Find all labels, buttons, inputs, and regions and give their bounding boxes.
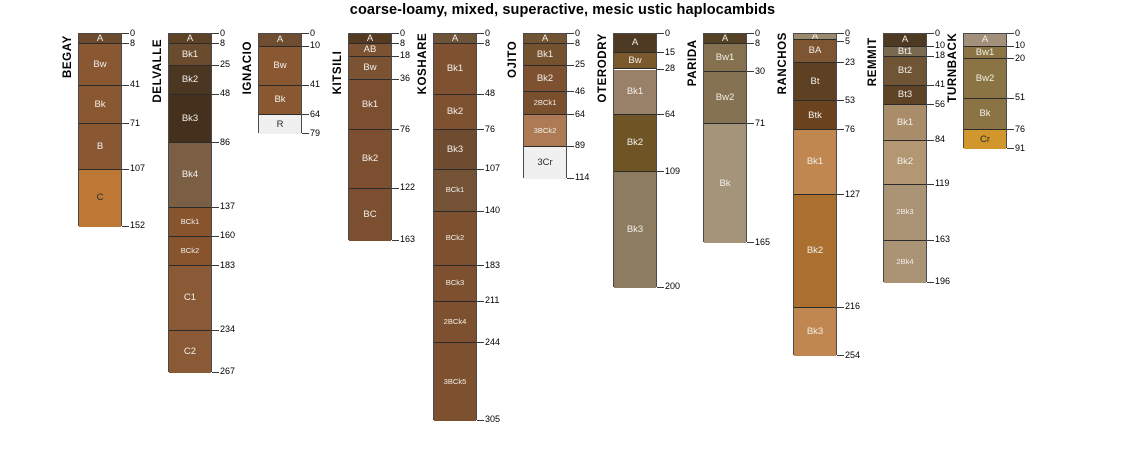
horizon-label: Bt — [811, 77, 820, 87]
depth-label: 5 — [845, 37, 850, 46]
depth-tick — [837, 62, 844, 63]
horizon-label: Bw — [628, 56, 641, 66]
horizon-label: Bw2 — [716, 93, 734, 103]
horizon-bk3[interactable]: Bk3 — [614, 172, 656, 287]
depth-label: 137 — [220, 202, 235, 211]
depth-tick — [1007, 33, 1014, 34]
horizon-label: Bk2 — [537, 74, 553, 84]
depth-tick — [837, 129, 844, 130]
depth-tick — [392, 240, 399, 241]
depth-label: 0 — [935, 29, 940, 38]
depth-tick — [1007, 46, 1014, 47]
horizon-bk3[interactable]: Bk3 — [434, 130, 476, 169]
depth-label: 0 — [575, 29, 580, 38]
horizon-label: Btk — [808, 111, 822, 121]
horizon-2bk3[interactable]: 2Bk3 — [884, 185, 926, 241]
depth-label: 8 — [575, 39, 580, 48]
depth-label: 163 — [935, 235, 950, 244]
depth-label: 76 — [1015, 125, 1025, 134]
depth-label: 28 — [665, 64, 675, 73]
depth-tick — [657, 171, 664, 172]
depth-label: 15 — [665, 48, 675, 57]
depth-label: 152 — [130, 221, 145, 230]
horizon-bw2[interactable]: Bw2 — [964, 59, 1006, 98]
depth-tick — [302, 114, 309, 115]
horizon-bk1[interactable]: Bk1 — [614, 70, 656, 116]
depth-label: 41 — [310, 80, 320, 89]
profile-name-label: BEGAY — [62, 37, 74, 78]
depth-label: 216 — [845, 302, 860, 311]
depth-tick — [212, 65, 219, 66]
depth-label: 46 — [575, 87, 585, 96]
depth-tick — [122, 43, 129, 44]
depth-tick — [122, 226, 129, 227]
horizon-bw2[interactable]: Bw2 — [704, 72, 746, 124]
depth-label: 79 — [310, 129, 320, 138]
depth-label: 25 — [220, 60, 230, 69]
depth-tick — [477, 420, 484, 421]
profile-name-label: REMMIT — [867, 37, 879, 86]
horizon-3bck2[interactable]: 3BCk2 — [524, 115, 566, 147]
depth-label: 0 — [400, 29, 405, 38]
horizon-3cr[interactable]: 3Cr — [524, 147, 566, 179]
horizon-label: Bt3 — [898, 90, 912, 100]
depth-tick — [837, 33, 844, 34]
depth-label: 8 — [755, 39, 760, 48]
depth-label: 109 — [665, 167, 680, 176]
horizon-label: Bw — [273, 61, 286, 71]
horizon-c1[interactable]: C1 — [169, 266, 211, 331]
horizon-label: Bk1 — [362, 100, 378, 110]
horizon-2bck1[interactable]: 2BCk1 — [524, 92, 566, 115]
horizon-bw[interactable]: Bw — [79, 44, 121, 86]
horizon-label: 2Bk3 — [896, 208, 913, 216]
horizon-label: A — [277, 35, 283, 45]
horizon-bk1[interactable]: Bk1 — [524, 44, 566, 66]
depth-label: 122 — [400, 183, 415, 192]
profile-column: AABBwBk1Bk2BC — [348, 33, 392, 240]
horizon-bk1[interactable]: Bk1 — [794, 130, 836, 195]
profile-name-label: KITSILI — [332, 37, 344, 94]
depth-label: 119 — [935, 179, 949, 188]
horizon-bw[interactable]: Bw — [259, 47, 301, 86]
depth-label: 71 — [755, 119, 765, 128]
horizon-bk[interactable]: Bk — [964, 99, 1006, 131]
horizon-bc[interactable]: BC — [349, 189, 391, 241]
depth-label: 84 — [935, 135, 945, 144]
depth-label: 30 — [755, 67, 765, 76]
horizon-label: C1 — [184, 293, 196, 303]
horizon-bt2[interactable]: Bt2 — [884, 57, 926, 86]
depth-label: 200 — [665, 282, 680, 291]
horizon-label: A — [452, 34, 458, 43]
horizon-bw1[interactable]: Bw1 — [704, 44, 746, 72]
horizon-bw[interactable]: Bw — [614, 53, 656, 69]
depth-label: 244 — [485, 338, 500, 347]
depth-label: 183 — [485, 261, 500, 270]
depth-tick — [212, 207, 219, 208]
depth-label: 8 — [220, 39, 225, 48]
depth-label: 0 — [1015, 29, 1020, 38]
profile-column: ABwBkR — [258, 33, 302, 133]
depth-tick — [302, 133, 309, 134]
depth-label: 0 — [755, 29, 760, 38]
horizon-label: 2BCk1 — [534, 99, 557, 107]
profile-name-label: KOSHARE — [417, 37, 429, 94]
horizon-label: AB — [364, 45, 377, 55]
depth-tick — [122, 123, 129, 124]
horizon-label: 2Bk4 — [896, 258, 913, 266]
depth-tick — [567, 33, 574, 34]
horizon-bt[interactable]: Bt — [794, 63, 836, 101]
depth-label: 163 — [400, 235, 415, 244]
horizon-label: Bk1 — [897, 118, 913, 128]
horizon-label: A — [97, 34, 103, 43]
horizon-bck1[interactable]: BCk1 — [434, 170, 476, 212]
depth-tick — [927, 33, 934, 34]
depth-tick — [477, 43, 484, 44]
horizon-label: Bk — [979, 109, 990, 119]
depth-label: 89 — [575, 141, 585, 150]
depth-label: 107 — [130, 164, 145, 173]
depth-tick — [747, 43, 754, 44]
depth-tick — [477, 129, 484, 130]
depth-tick — [567, 91, 574, 92]
horizon-label: Bk2 — [362, 154, 378, 164]
horizon-bw1[interactable]: Bw1 — [964, 47, 1006, 60]
depth-tick — [302, 85, 309, 86]
horizon-bck2[interactable]: BCk2 — [434, 212, 476, 267]
depth-tick — [212, 236, 219, 237]
profile-name-label: RANCHOS — [777, 37, 789, 94]
horizon-a[interactable]: A — [349, 34, 391, 44]
depth-tick — [927, 282, 934, 283]
horizon-label: 3BCk2 — [534, 127, 557, 135]
depth-tick — [122, 169, 129, 170]
horizon-label: Bk1 — [447, 64, 463, 74]
horizon-label: C2 — [184, 347, 196, 357]
depth-label: 0 — [220, 29, 225, 38]
profile-column: ABw1Bw2Bk — [703, 33, 747, 242]
horizon-bk4[interactable]: Bk4 — [169, 143, 211, 208]
depth-tick — [392, 188, 399, 189]
depth-tick — [122, 33, 129, 34]
depth-tick — [477, 265, 484, 266]
depth-tick — [927, 56, 934, 57]
depth-tick — [837, 100, 844, 101]
depth-tick — [927, 104, 934, 105]
horizon-bk[interactable]: Bk — [259, 86, 301, 115]
horizon-label: BCk2 — [181, 247, 200, 255]
depth-tick — [1007, 58, 1014, 59]
horizon-bk1[interactable]: Bk1 — [434, 44, 476, 95]
depth-label: 8 — [130, 39, 135, 48]
depth-tick — [657, 287, 664, 288]
horizon-a[interactable]: A — [614, 34, 656, 53]
horizon-label: Bw1 — [976, 48, 994, 58]
horizon-bk3[interactable]: Bk3 — [794, 308, 836, 356]
horizon-label: Bk2 — [627, 138, 643, 148]
horizon-bt3[interactable]: Bt3 — [884, 86, 926, 105]
horizon-a[interactable]: A — [964, 34, 1006, 47]
depth-label: 20 — [1015, 54, 1025, 63]
horizon-label: Bw — [93, 60, 106, 70]
horizon-a[interactable]: A — [79, 34, 121, 44]
profile-column: ABABtBtkBk1Bk2Bk3 — [793, 33, 837, 355]
depth-tick — [657, 69, 664, 70]
depth-tick — [837, 41, 844, 42]
horizon-label: R — [277, 120, 284, 130]
profile-name-label: IGNACIO — [242, 37, 254, 94]
depth-label: 64 — [665, 110, 675, 119]
horizon-label: BCk3 — [446, 279, 465, 287]
depth-tick — [302, 33, 309, 34]
horizon-cr[interactable]: Cr — [964, 130, 1006, 149]
profile-column: ABw1Bw2BkCr — [963, 33, 1007, 148]
depth-label: 0 — [130, 29, 135, 38]
horizon-c[interactable]: C — [79, 170, 121, 227]
depth-tick — [392, 129, 399, 130]
depth-label: 18 — [400, 51, 410, 60]
horizon-label: Bk3 — [627, 225, 643, 235]
depth-label: 36 — [400, 74, 410, 83]
depth-label: 165 — [755, 238, 770, 247]
depth-label: 196 — [935, 277, 950, 286]
horizon-2bk4[interactable]: 2Bk4 — [884, 241, 926, 283]
horizon-a[interactable]: A — [704, 34, 746, 44]
horizon-label: BA — [809, 46, 822, 56]
horizon-bk1[interactable]: Bk1 — [349, 80, 391, 131]
depth-label: 8 — [400, 39, 405, 48]
depth-label: 267 — [220, 367, 235, 376]
depth-label: 0 — [665, 29, 670, 38]
horizon-label: Bk — [719, 179, 730, 189]
profile-column: ABk1Bk2Bk3BCk1BCk2BCk32BCk43BCk5 — [433, 33, 477, 420]
depth-tick — [927, 184, 934, 185]
soil-profile-plot: BEGAYABwBkBC084171107152DELVALLEABk1Bk2B… — [0, 0, 1125, 450]
depth-label: 254 — [845, 351, 860, 360]
profile-name-label: OTERODRY — [597, 37, 609, 103]
depth-tick — [212, 43, 219, 44]
depth-label: 41 — [935, 80, 945, 89]
depth-label: 18 — [935, 51, 945, 60]
profile-name-label: OJITO — [507, 37, 519, 78]
horizon-bck3[interactable]: BCk3 — [434, 266, 476, 302]
depth-tick — [927, 85, 934, 86]
horizon-label: Bk1 — [537, 50, 553, 60]
depth-label: 76 — [845, 125, 855, 134]
horizon-bk2[interactable]: Bk2 — [169, 66, 211, 95]
horizon-label: Bw2 — [976, 74, 994, 84]
horizon-label: Bk1 — [182, 50, 198, 60]
horizon-a[interactable]: A — [434, 34, 476, 44]
depth-tick — [657, 52, 664, 53]
horizon-a[interactable]: A — [169, 34, 211, 44]
depth-tick — [392, 33, 399, 34]
horizon-label: Bk1 — [807, 157, 823, 167]
horizon-a[interactable]: A — [524, 34, 566, 44]
depth-label: 183 — [220, 261, 235, 270]
horizon-label: A — [722, 34, 728, 43]
horizon-label: A — [367, 34, 373, 43]
horizon-bk2[interactable]: Bk2 — [884, 141, 926, 185]
horizon-label: BCk1 — [446, 186, 465, 194]
depth-label: 71 — [130, 119, 140, 128]
depth-tick — [477, 342, 484, 343]
horizon-bk2[interactable]: Bk2 — [524, 66, 566, 93]
horizon-bk2[interactable]: Bk2 — [614, 115, 656, 172]
horizon-label: Bw — [363, 63, 376, 73]
depth-tick — [212, 372, 219, 373]
horizon-label: Bw1 — [716, 53, 734, 63]
horizon-label: Bk4 — [182, 170, 198, 180]
horizon-label: A — [632, 38, 638, 48]
depth-label: 160 — [220, 231, 235, 240]
horizon-label: Bk2 — [182, 75, 198, 85]
horizon-label: C — [97, 193, 104, 203]
horizon-label: Bk2 — [897, 157, 913, 167]
depth-label: 53 — [845, 96, 855, 105]
depth-label: 76 — [485, 125, 495, 134]
horizon-a[interactable]: A — [884, 34, 926, 47]
depth-tick — [567, 43, 574, 44]
horizon-label: Bt1 — [898, 47, 912, 56]
depth-label: 23 — [845, 58, 855, 67]
horizon-label: 3BCk5 — [444, 378, 467, 386]
depth-tick — [927, 46, 934, 47]
horizon-bck1[interactable]: BCk1 — [169, 208, 211, 237]
horizon-r[interactable]: R — [259, 115, 301, 134]
horizon-bck2[interactable]: BCk2 — [169, 237, 211, 266]
horizon-label: Bk — [94, 100, 105, 110]
depth-tick — [657, 33, 664, 34]
depth-tick — [212, 33, 219, 34]
depth-label: 41 — [130, 80, 140, 89]
horizon-b[interactable]: B — [79, 124, 121, 170]
depth-tick — [1007, 98, 1014, 99]
depth-label: 0 — [310, 29, 315, 38]
depth-tick — [302, 46, 309, 47]
horizon-bk2[interactable]: Bk2 — [434, 95, 476, 131]
depth-label: 56 — [935, 100, 945, 109]
horizon-label: Bk3 — [807, 327, 823, 337]
depth-tick — [477, 211, 484, 212]
depth-tick — [747, 33, 754, 34]
horizon-label: BCk1 — [181, 218, 200, 226]
horizon-ab[interactable]: AB — [349, 44, 391, 57]
horizon-2bck4[interactable]: 2BCk4 — [434, 302, 476, 344]
depth-label: 91 — [1015, 144, 1025, 153]
horizon-label: A — [542, 34, 548, 43]
horizon-ba[interactable]: BA — [794, 40, 836, 63]
depth-tick — [837, 307, 844, 308]
depth-label: 48 — [220, 89, 230, 98]
depth-label: 48 — [485, 89, 495, 98]
horizon-bt1[interactable]: Bt1 — [884, 47, 926, 57]
depth-tick — [747, 71, 754, 72]
horizon-label: BC — [363, 210, 376, 220]
depth-label: 211 — [485, 296, 499, 305]
depth-tick — [477, 33, 484, 34]
horizon-bk2[interactable]: Bk2 — [794, 195, 836, 308]
depth-tick — [212, 94, 219, 95]
horizon-label: Bt2 — [898, 66, 912, 76]
depth-tick — [477, 169, 484, 170]
depth-label: 86 — [220, 138, 230, 147]
depth-tick — [212, 142, 219, 143]
depth-tick — [927, 240, 934, 241]
depth-label: 114 — [575, 173, 589, 182]
depth-tick — [837, 194, 844, 195]
horizon-label: Bk2 — [807, 246, 823, 256]
horizon-3bck5[interactable]: 3BCk5 — [434, 343, 476, 420]
horizon-label: 3Cr — [537, 158, 552, 168]
depth-tick — [567, 65, 574, 66]
horizon-c2[interactable]: C2 — [169, 331, 211, 373]
depth-tick — [392, 56, 399, 57]
depth-label: 10 — [1015, 41, 1025, 50]
depth-label: 51 — [1015, 93, 1025, 102]
profile-column: ABk1Bk22BCk13BCk23Cr — [523, 33, 567, 178]
horizon-bk2[interactable]: Bk2 — [349, 130, 391, 188]
horizon-label: A — [187, 34, 193, 43]
depth-tick — [567, 178, 574, 179]
horizon-bk[interactable]: Bk — [79, 86, 121, 124]
horizon-bk1[interactable]: Bk1 — [884, 105, 926, 141]
profile-column: ABt1Bt2Bt3Bk1Bk22Bk32Bk4 — [883, 33, 927, 282]
depth-tick — [392, 43, 399, 44]
depth-tick — [1007, 148, 1014, 149]
depth-label: 305 — [485, 415, 500, 424]
profile-name-label: TURNBACK — [947, 37, 959, 103]
depth-label: 127 — [845, 190, 860, 199]
horizon-label: Bk1 — [627, 87, 643, 97]
horizon-label: Bk2 — [447, 107, 463, 117]
horizon-bk1[interactable]: Bk1 — [169, 44, 211, 66]
horizon-bk[interactable]: Bk — [704, 124, 746, 243]
depth-tick — [927, 140, 934, 141]
horizon-a[interactable]: A — [259, 34, 301, 47]
depth-tick — [212, 265, 219, 266]
depth-label: 64 — [310, 110, 320, 119]
depth-label: 234 — [220, 325, 235, 334]
horizon-label: Bk3 — [182, 114, 198, 124]
depth-tick — [392, 79, 399, 80]
horizon-label: Bk3 — [447, 145, 463, 155]
horizon-bw[interactable]: Bw — [349, 57, 391, 80]
depth-label: 8 — [485, 39, 490, 48]
horizon-label: Cr — [980, 135, 990, 145]
depth-label: 0 — [485, 29, 490, 38]
depth-label: 64 — [575, 110, 585, 119]
profile-column: ABwBkBC — [78, 33, 122, 226]
profile-column: ABk1Bk2Bk3Bk4BCk1BCk2C1C2 — [168, 33, 212, 372]
depth-label: 25 — [575, 60, 585, 69]
depth-tick — [747, 123, 754, 124]
horizon-bk3[interactable]: Bk3 — [169, 95, 211, 143]
horizon-btk[interactable]: Btk — [794, 101, 836, 130]
horizon-label: B — [97, 142, 103, 152]
horizon-label: A — [982, 35, 988, 45]
depth-label: 76 — [400, 125, 410, 134]
horizon-label: BCk2 — [446, 234, 465, 242]
depth-label: 140 — [485, 206, 500, 215]
depth-tick — [837, 355, 844, 356]
depth-tick — [212, 330, 219, 331]
horizon-label: A — [902, 35, 908, 45]
depth-tick — [477, 94, 484, 95]
profile-column: ABwBk1Bk2Bk3 — [613, 33, 657, 287]
